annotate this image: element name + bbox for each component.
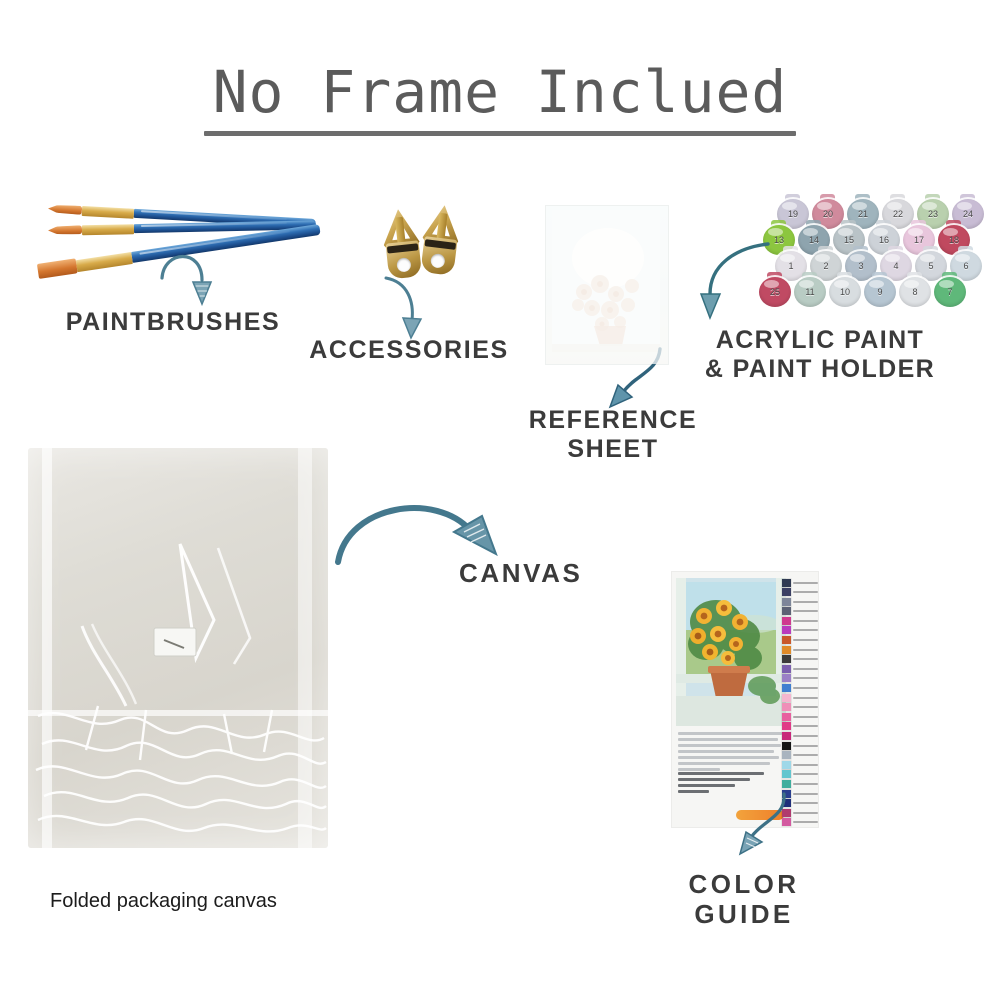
color-swatch-4 — [782, 607, 818, 616]
bag-creases — [28, 448, 328, 848]
curved-arrow-paintbrushes — [150, 238, 220, 310]
paint-pot-row-4: 251110987 — [758, 276, 968, 308]
paint-pot-number: 9 — [863, 276, 897, 308]
page-title-block: No Frame Inclued — [0, 62, 1000, 136]
color-swatch-5 — [782, 616, 818, 625]
paint-pot-number: 8 — [898, 276, 932, 308]
color-swatch-18 — [782, 741, 818, 750]
swatch-chip — [782, 722, 791, 730]
swatch-chip — [782, 636, 791, 644]
swatch-label — [793, 745, 818, 747]
swatch-label — [793, 610, 818, 612]
swatch-chip — [782, 770, 791, 778]
color-guide-label: COLOR GUIDE — [689, 870, 800, 929]
swatch-chip — [782, 732, 791, 740]
color-guide-photo — [676, 578, 786, 726]
reference-sheet-label-line1: REFERENCE — [529, 406, 698, 434]
acrylic-paint-label: ACRYLIC PAINT & PAINT HOLDER — [705, 326, 935, 383]
color-swatch-17 — [782, 732, 818, 741]
swatch-label — [793, 639, 818, 641]
acrylic-paint-label-line1: ACRYLIC PAINT — [716, 326, 924, 354]
swatch-label — [793, 649, 818, 651]
swatch-chip — [782, 751, 791, 759]
swatch-label — [793, 697, 818, 699]
curved-arrow-color-guide — [718, 790, 798, 862]
swatch-label — [793, 735, 818, 737]
swatch-chip — [782, 703, 791, 711]
swatch-chip — [782, 674, 791, 682]
swatch-chip — [782, 626, 791, 634]
page-title: No Frame Inclued — [0, 62, 1000, 123]
swatch-chip — [782, 665, 791, 673]
reference-sheet-label: REFERENCE SHEET — [529, 406, 698, 463]
swatch-chip — [782, 742, 791, 750]
color-swatch-6 — [782, 626, 818, 635]
brush-ferrule — [76, 252, 133, 272]
swatch-label — [793, 706, 818, 708]
swatch-chip — [782, 617, 791, 625]
swatch-label — [793, 754, 818, 756]
accessories-label: ACCESSORIES — [309, 336, 509, 365]
paintbrushes-illustration — [30, 190, 340, 295]
swatch-chip — [782, 780, 791, 788]
swatch-label — [793, 725, 818, 727]
paint-pot-number: 7 — [933, 276, 967, 308]
brush-bristles — [37, 258, 78, 279]
color-swatch-22 — [782, 779, 818, 788]
color-swatch-8 — [782, 645, 818, 654]
swatch-label — [793, 764, 818, 766]
color-swatch-1 — [782, 578, 818, 587]
swatch-label — [793, 658, 818, 660]
swatch-label — [793, 601, 818, 603]
swatch-chip — [782, 713, 791, 721]
reference-sheet-illustration — [546, 206, 668, 364]
paint-pot-number: 11 — [793, 276, 827, 308]
color-swatch-16 — [782, 722, 818, 731]
swatch-chip — [782, 598, 791, 606]
color-swatch-15 — [782, 712, 818, 721]
color-swatch-20 — [782, 760, 818, 769]
swatch-chip — [782, 579, 791, 587]
color-guide-instructions — [678, 732, 782, 774]
swatch-label — [793, 620, 818, 622]
swatch-label — [793, 629, 818, 631]
color-swatch-21 — [782, 770, 818, 779]
brush-ferrule — [82, 205, 134, 218]
reference-sheet-label-line2: SHEET — [567, 435, 658, 463]
color-swatch-10 — [782, 664, 818, 673]
title-underline — [204, 131, 796, 136]
color-swatch-7 — [782, 636, 818, 645]
swatch-chip — [782, 588, 791, 596]
paint-pot-10: 10 — [828, 276, 862, 308]
color-guide-label-line2: GUIDE — [694, 899, 793, 929]
brush-ferrule — [82, 224, 134, 235]
plastic-bag — [28, 448, 328, 848]
swatch-label — [793, 783, 818, 785]
acrylic-paint-label-line2: & PAINT HOLDER — [705, 355, 935, 383]
sunflower-painting — [676, 578, 786, 726]
color-swatch-2 — [782, 588, 818, 597]
swatch-label — [793, 687, 818, 689]
swatch-chip — [782, 684, 791, 692]
swatch-label — [793, 716, 818, 718]
swatch-chip — [782, 607, 791, 615]
reference-sheet-overlay — [546, 206, 668, 364]
paintbrushes-label: PAINTBRUSHES — [66, 308, 281, 337]
swatch-label — [793, 773, 818, 775]
color-swatch-9 — [782, 655, 818, 664]
brush-bristles — [48, 204, 82, 215]
paint-pot-8: 8 — [898, 276, 932, 308]
color-swatch-13 — [782, 693, 818, 702]
swatch-chip — [782, 694, 791, 702]
swatch-label — [793, 591, 818, 593]
paint-pot-9: 9 — [863, 276, 897, 308]
swatch-label — [793, 668, 818, 670]
paint-pot-7: 7 — [933, 276, 967, 308]
infographic-canvas: No Frame Inclued PAINTBRUSHES — [0, 0, 1000, 1000]
brush-bristles — [48, 225, 82, 235]
curved-arrow-acrylic-paint — [694, 236, 776, 322]
color-swatch-11 — [782, 674, 818, 683]
curved-arrow-accessories — [378, 272, 444, 342]
color-swatch-3 — [782, 597, 818, 606]
swatch-chip — [782, 655, 791, 663]
swatch-label — [793, 677, 818, 679]
canvas-package-illustration — [28, 448, 328, 848]
swatch-chip — [782, 646, 791, 654]
canvas-package-caption: Folded packaging canvas — [50, 890, 277, 913]
color-guide-label-line1: COLOR — [689, 869, 800, 899]
color-swatch-14 — [782, 703, 818, 712]
color-swatch-12 — [782, 684, 818, 693]
swatch-chip — [782, 761, 791, 769]
paint-pot-11: 11 — [793, 276, 827, 308]
color-swatch-19 — [782, 751, 818, 760]
paint-pot-number: 10 — [828, 276, 862, 308]
swatch-label — [793, 582, 818, 584]
color-guide-illustration — [672, 572, 818, 827]
canvas-label: CANVAS — [459, 559, 582, 589]
acrylic-paint-illustration: 192021222324 131415161718 123456 2511109… — [752, 198, 967, 310]
